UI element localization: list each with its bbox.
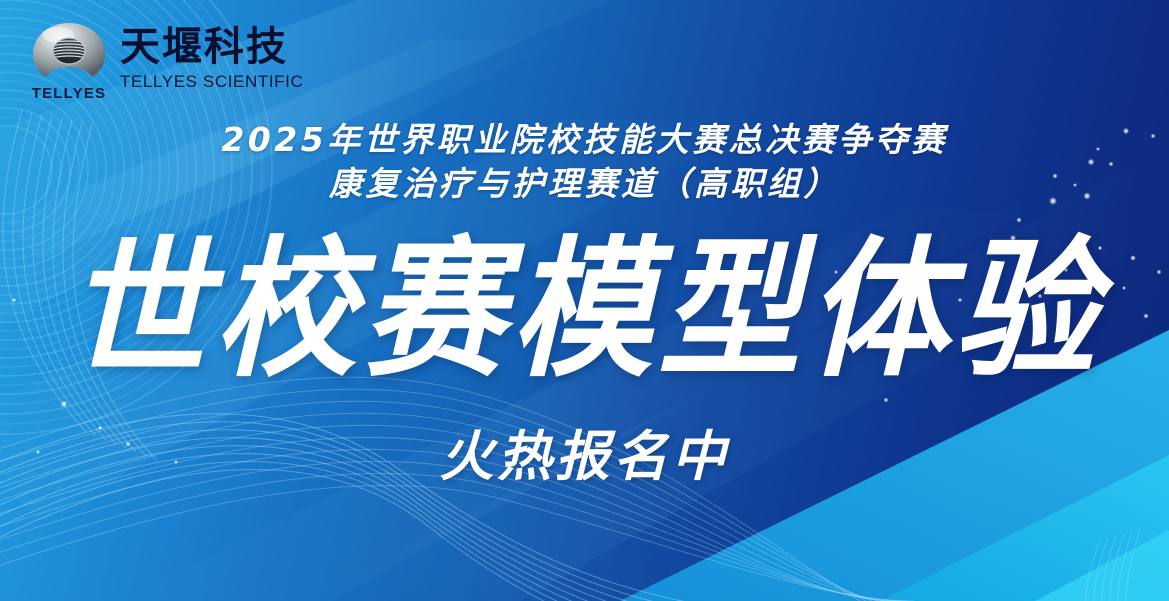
brand-name-group: 天堰科技 TELLYES SCIENTIFIC (120, 22, 303, 92)
logo-wordmark: TELLYES (30, 85, 108, 102)
cta-text[interactable]: 火热报名中 (440, 424, 730, 490)
subtitle-line-2: 康复治疗与护理赛道（高职组） (0, 162, 1169, 206)
cta-block[interactable]: 火热报名中 (0, 424, 1169, 490)
event-subtitle: 2025年世界职业院校技能大赛总决赛争夺赛 康复治疗与护理赛道（高职组） (0, 118, 1169, 206)
logo-mark: TELLYES (30, 22, 108, 102)
main-headline: 世校赛模型体验 (0, 236, 1169, 386)
brand-logo-block: TELLYES 天堰科技 TELLYES SCIENTIFIC (30, 22, 303, 102)
subtitle-line-1: 2025年世界职业院校技能大赛总决赛争夺赛 (0, 118, 1169, 162)
promo-banner: TELLYES 天堰科技 TELLYES SCIENTIFIC 2025年世界职… (0, 0, 1169, 601)
company-name-en: TELLYES SCIENTIFIC (120, 72, 303, 92)
company-name-cn: 天堰科技 (120, 24, 303, 70)
tellyes-sphere-logo-icon (30, 22, 108, 84)
headline-text: 世校赛模型体验 (67, 232, 1103, 391)
